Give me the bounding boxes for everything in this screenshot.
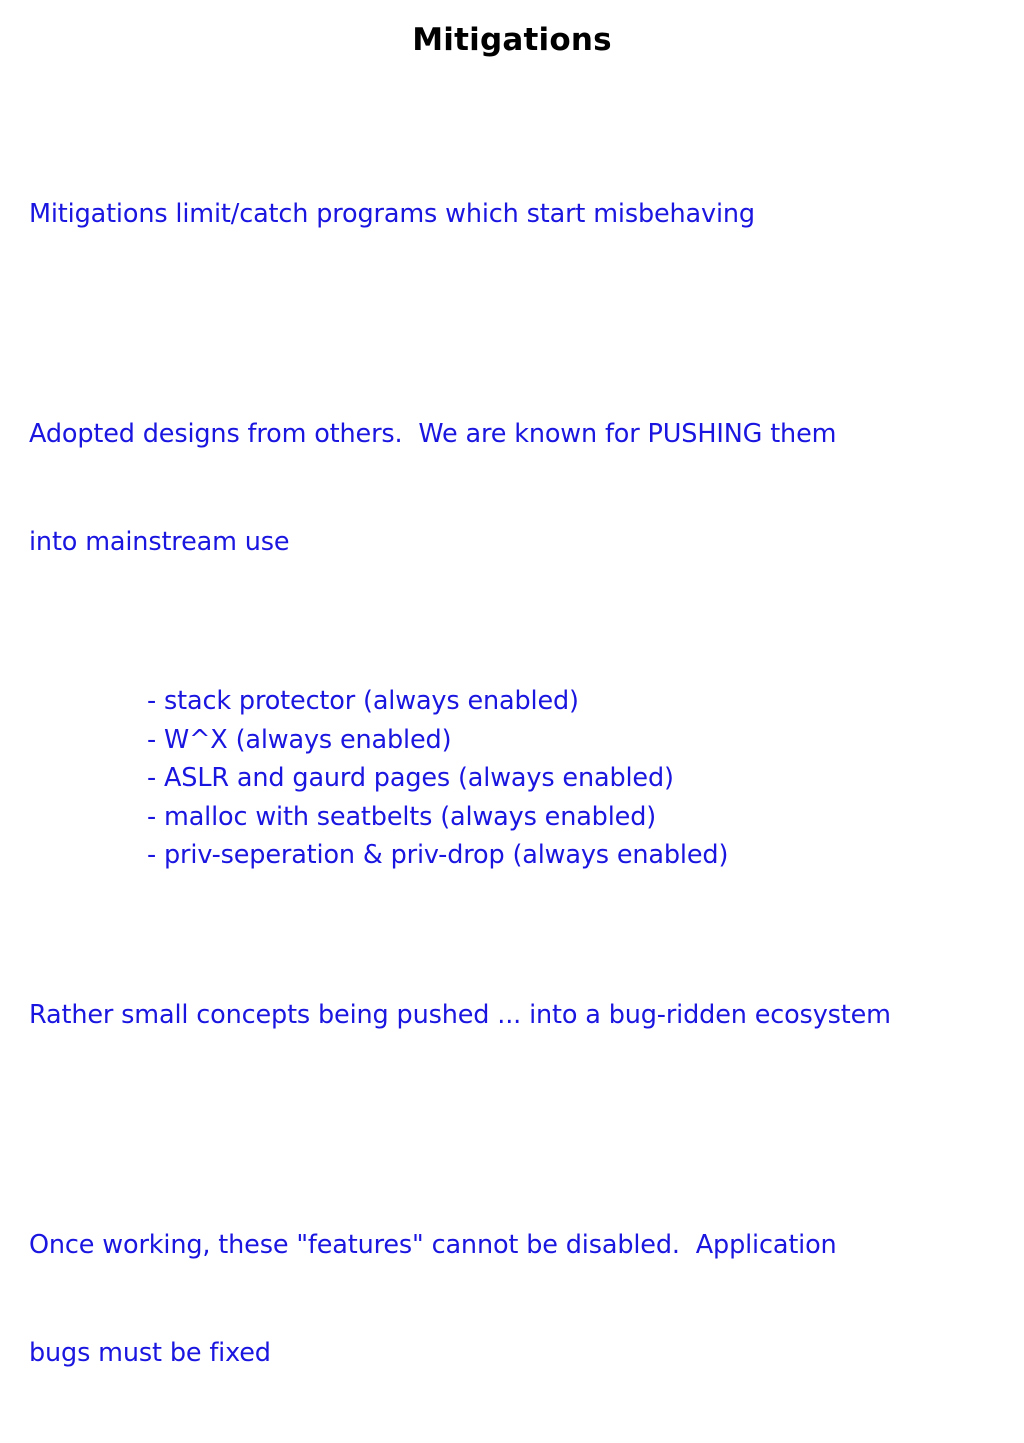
paragraph-intro: Mitigations limit/catch programs which s… [29, 124, 994, 304]
dash-bullet-icon: - [147, 802, 164, 832]
list-item: - malloc with seatbelts (always enabled) [147, 798, 994, 837]
paragraph-adopted-designs-line-1: Adopted designs from others. We are know… [29, 416, 994, 452]
list-item: - W^X (always enabled) [147, 721, 994, 760]
paragraph-adopted-designs: Adopted designs from others. We are know… [29, 344, 994, 632]
dash-bullet-icon: - [147, 840, 164, 870]
slide-body: Mitigations limit/catch programs which s… [29, 124, 994, 1443]
mitigation-list: - stack protector (always enabled) - W^X… [147, 682, 994, 875]
paragraph-small-concepts: Rather small concepts being pushed ... i… [29, 925, 994, 1105]
spacer-1 [29, 304, 994, 344]
paragraph-intro-line-1: Mitigations limit/catch programs which s… [29, 196, 994, 232]
dash-bullet-icon: - [147, 725, 164, 755]
presentation-slide: Mitigations Mitigations limit/catch prog… [0, 0, 1024, 768]
paragraph-small-concepts-line-1: Rather small concepts being pushed ... i… [29, 997, 994, 1033]
paragraph-once-working-line-1: Once working, these "features" cannot be… [29, 1227, 994, 1263]
list-item-label: W^X (always enabled) [164, 725, 451, 755]
paragraph-once-working: Once working, these "features" cannot be… [29, 1155, 994, 1443]
list-item-label: malloc with seatbelts (always enabled) [164, 802, 656, 832]
dash-bullet-icon: - [147, 686, 164, 716]
list-item-label: stack protector (always enabled) [164, 686, 579, 716]
page-title: Mitigations [0, 21, 1024, 59]
paragraph-once-working-line-2: bugs must be fixed [29, 1335, 994, 1371]
list-item-label: priv-seperation & priv-drop (always enab… [164, 840, 728, 870]
paragraph-adopted-designs-line-2: into mainstream use [29, 524, 994, 560]
spacer-3 [29, 875, 994, 925]
spacer-2 [29, 632, 994, 682]
list-item: - priv-seperation & priv-drop (always en… [147, 836, 994, 875]
list-item: - ASLR and gaurd pages (always enabled) [147, 759, 994, 798]
list-item: - stack protector (always enabled) [147, 682, 994, 721]
spacer-4 [29, 1105, 994, 1155]
